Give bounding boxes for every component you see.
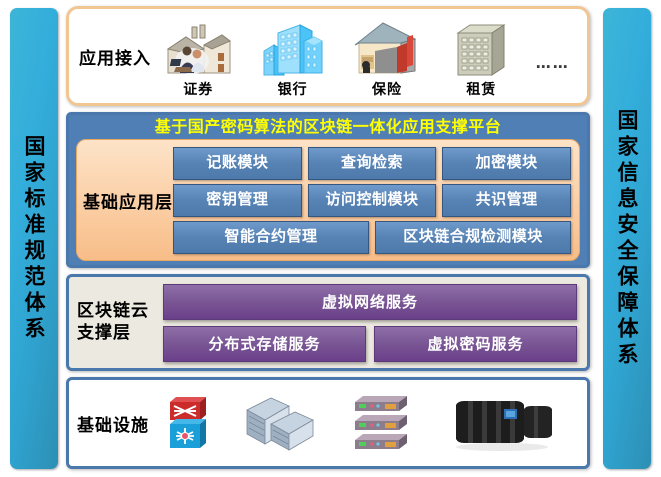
right-pillar-label: 国家信息安全保障体系 xyxy=(616,109,638,369)
app-items-ellipsis: …… xyxy=(536,54,570,72)
service-virtual-network[interactable]: 虚拟网络服务 xyxy=(163,284,577,320)
platform-panel: 基于国产密码算法的区块链一体化应用支撑平台 基础应用层 记账模块 查询检索 加密… xyxy=(66,112,590,268)
app-item-leasing[interactable]: 租赁 xyxy=(441,13,521,99)
base-application-layer-label: 基础应用层 xyxy=(83,188,173,213)
infra-item-switch[interactable] xyxy=(166,388,210,458)
right-pillar-information-security: 国家信息安全保障体系 xyxy=(603,8,651,469)
module-access-control[interactable]: 访问控制模块 xyxy=(308,184,437,217)
module-row-3: 智能合约管理 区块链合规检测模块 xyxy=(173,221,571,254)
app-item-insurance[interactable]: 保险 xyxy=(347,13,427,99)
module-key-management[interactable]: 密钥管理 xyxy=(173,184,302,217)
infrastructure-label: 基础设施 xyxy=(77,411,149,436)
diagram-canvas: 国家标准规范体系 国家信息安全保障体系 应用接入 xyxy=(0,0,661,477)
module-accounting[interactable]: 记账模块 xyxy=(173,147,302,180)
leasing-building-icon xyxy=(452,21,510,77)
application-access-items: 证券 xyxy=(151,9,577,103)
cloud-service-grid: 虚拟网络服务 分布式存储服务 虚拟密码服务 xyxy=(163,282,577,363)
infrastructure-panel: 基础设施 xyxy=(66,377,590,469)
app-item-caption: 保险 xyxy=(372,79,402,99)
left-pillar-label: 国家标准规范体系 xyxy=(23,135,45,343)
cloud-label-line-1: 区块链云 xyxy=(77,301,163,322)
cloud-service-row-1: 虚拟网络服务 xyxy=(163,284,577,320)
application-access-panel: 应用接入 xyxy=(66,6,590,106)
left-pillar-national-standards: 国家标准规范体系 xyxy=(10,8,58,469)
platform-title: 基于国产密码算法的区块链一体化应用支撑平台 xyxy=(69,115,587,139)
app-item-bank[interactable]: 银行 xyxy=(253,13,333,99)
module-consensus-management[interactable]: 共识管理 xyxy=(442,184,571,217)
server-rack-icon xyxy=(243,392,317,454)
rack-servers-icon xyxy=(351,392,413,454)
mainframe-icon xyxy=(446,393,558,453)
service-virtual-cryptography[interactable]: 虚拟密码服务 xyxy=(374,326,577,362)
base-application-layer-panel: 基础应用层 记账模块 查询检索 加密模块 密钥管理 访问控制模块 共识管理 智能… xyxy=(76,139,580,261)
layer-stack: 应用接入 xyxy=(66,6,590,472)
module-row-1: 记账模块 查询检索 加密模块 xyxy=(173,147,571,180)
service-distributed-storage[interactable]: 分布式存储服务 xyxy=(163,326,366,362)
securities-house-icon xyxy=(162,21,234,77)
application-access-label: 应用接入 xyxy=(79,44,151,69)
bank-buildings-icon xyxy=(260,21,326,77)
infrastructure-items xyxy=(149,380,575,466)
app-item-securities[interactable]: 证券 xyxy=(158,13,238,99)
cloud-label-line-2: 支撑层 xyxy=(77,323,163,344)
module-blockchain-compliance-detection[interactable]: 区块链合规检测模块 xyxy=(375,221,571,254)
module-encryption[interactable]: 加密模块 xyxy=(442,147,571,180)
infra-item-mainframe[interactable] xyxy=(446,388,558,458)
module-query-search[interactable]: 查询检索 xyxy=(308,147,437,180)
blockchain-cloud-support-panel: 区块链云 支撑层 虚拟网络服务 分布式存储服务 虚拟密码服务 xyxy=(66,274,590,371)
insurance-house-icon xyxy=(353,21,421,77)
base-module-grid: 记账模块 查询检索 加密模块 密钥管理 访问控制模块 共识管理 智能合约管理 区… xyxy=(173,144,571,256)
module-row-2: 密钥管理 访问控制模块 共识管理 xyxy=(173,184,571,217)
app-item-caption: 证券 xyxy=(183,79,213,99)
app-item-caption: 银行 xyxy=(278,79,308,99)
infra-item-server-rack[interactable] xyxy=(243,388,317,458)
app-item-caption: 租赁 xyxy=(466,79,496,99)
module-smart-contract-management[interactable]: 智能合约管理 xyxy=(173,221,369,254)
network-switch-icon xyxy=(166,392,210,454)
blockchain-cloud-support-label: 区块链云 支撑层 xyxy=(77,301,163,344)
infra-item-rack-servers[interactable] xyxy=(351,388,413,458)
cloud-service-row-2: 分布式存储服务 虚拟密码服务 xyxy=(163,326,577,362)
